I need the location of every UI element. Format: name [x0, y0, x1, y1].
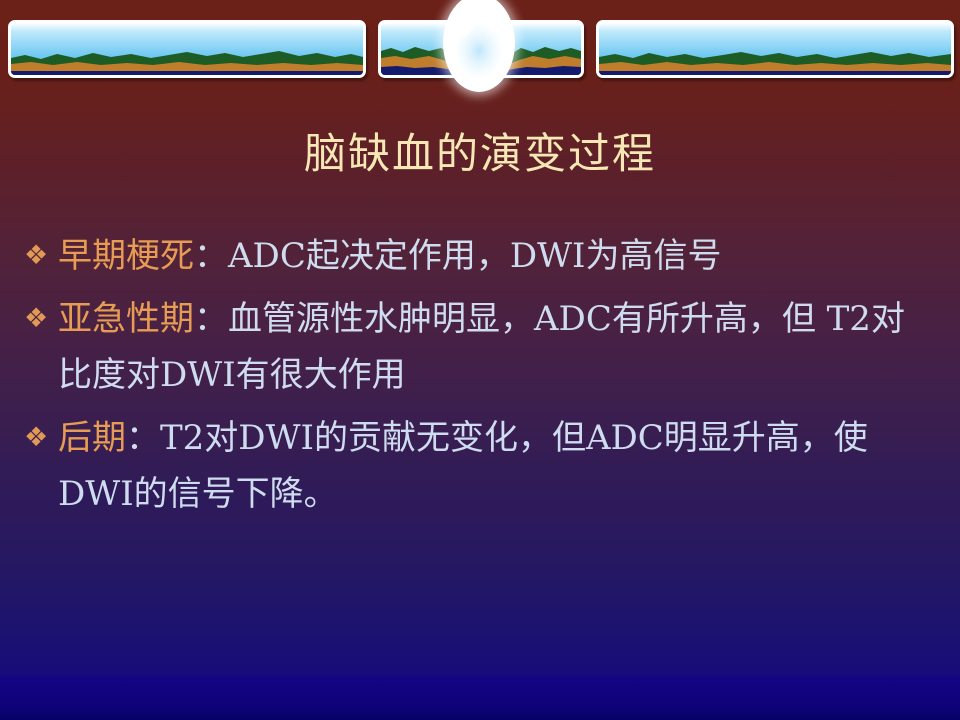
- bullet-item: ❖早期梗死：ADC起决定作用，DWI为高信号: [22, 228, 938, 284]
- bullet-item: ❖亚急性期：血管源性水肿明显，ADC有所升高，但 T2对比度对DWI有很大作用: [22, 291, 938, 403]
- bullet-lead-label: 后期: [58, 418, 126, 458]
- landscape-panel-right: [596, 20, 954, 78]
- sun-orb-icon: [443, 0, 515, 92]
- diamond-bullet-icon: ❖: [24, 228, 48, 284]
- terrain-graphic-left: [11, 45, 363, 75]
- bullet-lead-label: 亚急性期: [58, 299, 194, 339]
- terrain-graphic-right: [599, 45, 951, 75]
- landscape-panel-left: [8, 20, 366, 78]
- bullet-body-text: ：T2对DWI的贡献无变化，但ADC明显升高，使DWI的信号下降。: [58, 418, 868, 514]
- header-banner: [0, 0, 960, 100]
- presentation-slide: 脑缺血的演变过程 ❖早期梗死：ADC起决定作用，DWI为高信号 ❖亚急性期：血管…: [0, 0, 960, 720]
- diamond-bullet-icon: ❖: [24, 410, 48, 466]
- bullet-body-text: ：ADC起决定作用，DWI为高信号: [194, 236, 721, 276]
- bullet-item: ❖后期：T2对DWI的贡献无变化，但ADC明显升高，使DWI的信号下降。: [22, 410, 938, 522]
- bullet-list: ❖早期梗死：ADC起决定作用，DWI为高信号 ❖亚急性期：血管源性水肿明显，AD…: [22, 228, 938, 529]
- bullet-lead-label: 早期梗死: [58, 236, 194, 276]
- diamond-bullet-icon: ❖: [24, 291, 48, 347]
- slide-title: 脑缺血的演变过程: [0, 126, 960, 182]
